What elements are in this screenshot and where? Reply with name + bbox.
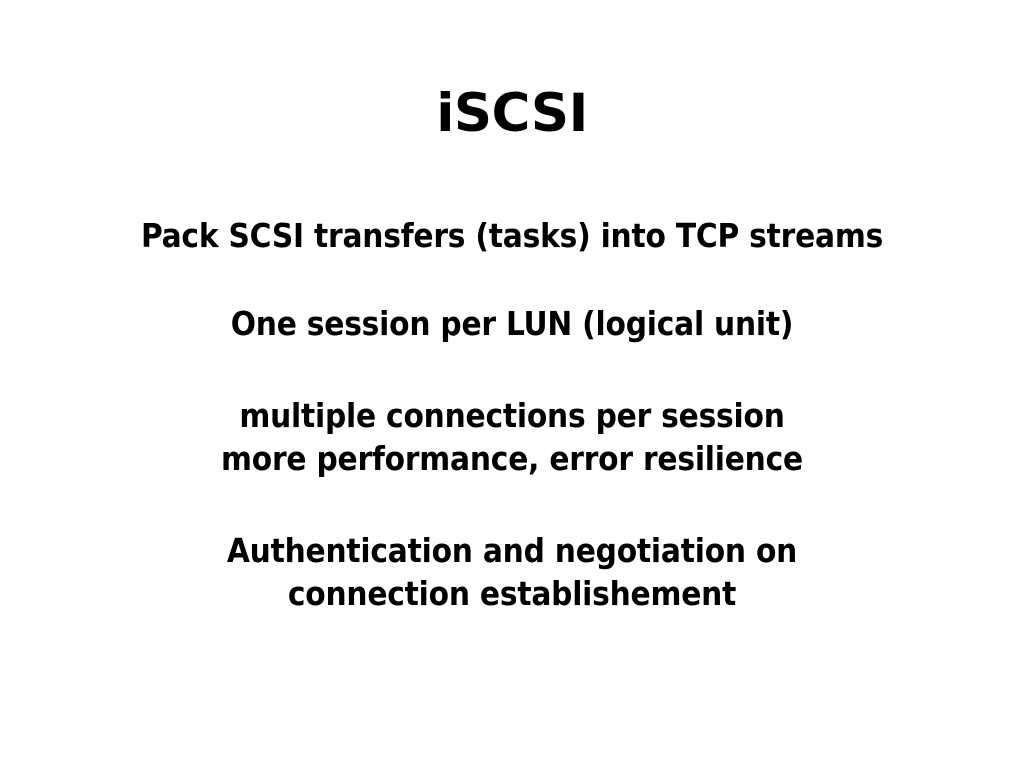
- slide-body-block: multiple connections per session more pe…: [0, 394, 1024, 480]
- presentation-slide: iSCSI Pack SCSI transfers (tasks) into T…: [0, 0, 1024, 768]
- page-title: iSCSI: [0, 84, 1024, 144]
- slide-body-line: more performance, error resilience: [0, 437, 1024, 480]
- slide-body-block: Authentication and negotiation on connec…: [0, 529, 1024, 615]
- slide-body-line: connection establishement: [0, 572, 1024, 615]
- slide-body-block: One session per LUN (logical unit): [0, 302, 1024, 345]
- slide-body-line: One session per LUN (logical unit): [0, 302, 1024, 345]
- slide-body-line: multiple connections per session: [0, 394, 1024, 437]
- slide-body-line: Pack SCSI transfers (tasks) into TCP str…: [0, 214, 1024, 257]
- slide-body-block: Pack SCSI transfers (tasks) into TCP str…: [0, 214, 1024, 257]
- slide-body-line: Authentication and negotiation on: [0, 529, 1024, 572]
